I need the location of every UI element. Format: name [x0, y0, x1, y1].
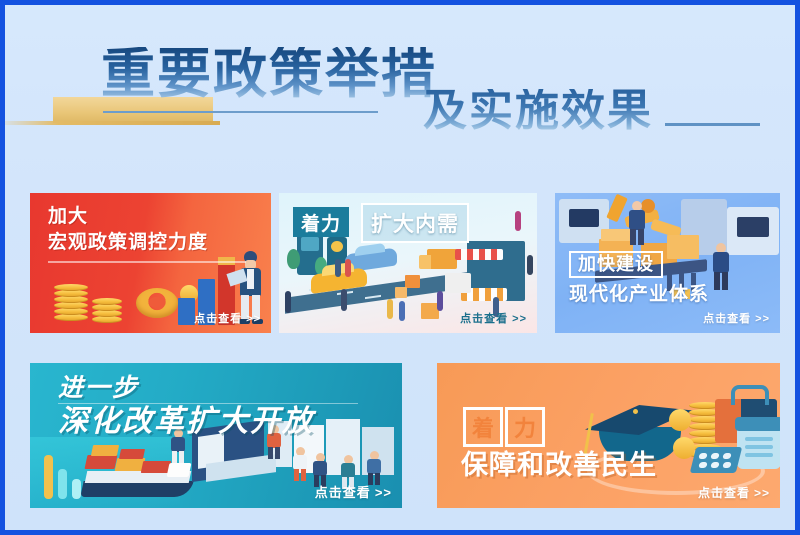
station-badge — [331, 241, 343, 252]
title-gold-rule — [5, 121, 220, 125]
cta-label: 点击查看 — [703, 313, 751, 325]
cta-label: 点击查看 — [460, 313, 508, 325]
card-macro-policy-line1: 加大 — [48, 207, 88, 227]
cta-label: 点击查看 — [698, 486, 750, 500]
coin-stack-short-icon — [92, 297, 122, 323]
card-livelihood-line1a: 着 — [463, 407, 503, 447]
card-domestic-demand[interactable]: 着力 扩大内需 点击查看>> — [279, 193, 537, 333]
card-reform-opening-cta[interactable]: 点击查看>> — [315, 482, 392, 501]
cta-arrow-icon: >> — [512, 313, 527, 325]
page-header: 重要政策举措 及实施效果 — [5, 5, 795, 180]
grad-cap-button — [633, 409, 638, 414]
container-red — [85, 455, 118, 469]
cta-arrow-icon: >> — [246, 313, 261, 325]
pedestrian — [527, 255, 533, 275]
title-main-underline — [103, 111, 378, 113]
worker-figure — [627, 201, 647, 245]
card-macro-policy[interactable]: 加大 宏观政策调控力度 点击查看>> — [30, 193, 271, 333]
jar-stripe — [745, 437, 773, 441]
pill-blister — [690, 447, 742, 473]
page-title-sub: 及实施效果 — [423, 89, 653, 133]
visitor-figure — [366, 451, 382, 485]
container-red — [119, 449, 145, 459]
cta-arrow-icon: >> — [754, 486, 770, 500]
card-domestic-demand-line1: 着力 — [293, 207, 349, 237]
mini-bar-cyan — [58, 469, 67, 499]
policy-measures-page: 重要政策举措 及实施效果 — [0, 0, 800, 535]
card-modern-industry-line2: 现代化产业体系 — [569, 285, 709, 305]
machine-screen — [569, 209, 599, 227]
machine-screen — [737, 217, 769, 237]
page-title-main: 重要政策举措 — [101, 47, 437, 101]
medicine-jar-lid — [735, 417, 780, 431]
card-modern-industry[interactable]: 加快建设 现代化产业体系 点击查看>> — [555, 193, 780, 333]
card-livelihood-line2: 保障和改善民生 — [461, 451, 657, 479]
card-reform-opening-rule — [58, 403, 358, 404]
pedestrian — [515, 211, 521, 231]
card-macro-policy-cta[interactable]: 点击查看>> — [194, 310, 261, 326]
cta-label: 点击查看 — [315, 485, 371, 500]
jar-stripe — [745, 445, 773, 449]
delivery-truck — [427, 249, 457, 269]
pedestrian — [345, 259, 351, 277]
pedestrian — [399, 301, 405, 321]
pedestrian — [285, 291, 291, 313]
shop-awning — [455, 249, 503, 260]
cta-arrow-icon: >> — [755, 313, 770, 325]
coin-stack-tall-icon — [54, 283, 88, 321]
card-domestic-demand-cta[interactable]: 点击查看>> — [460, 310, 527, 326]
pedestrian — [387, 299, 393, 319]
parcel-box — [395, 287, 407, 298]
card-reform-opening[interactable]: 进一步 深化改革扩大开放 点击查看>> — [30, 363, 402, 508]
single-coin-icon — [673, 437, 695, 459]
card-reform-opening-line1: 进一步 — [58, 375, 139, 401]
gold-ring-icon — [136, 288, 178, 318]
container-gold — [91, 445, 119, 456]
station-screen — [301, 237, 319, 251]
mini-bar-cyan-light — [72, 479, 81, 499]
stall-counter — [445, 273, 471, 293]
cta-label: 点击查看 — [194, 313, 242, 325]
card-livelihood[interactable]: 着 力 保障和改善民生 点击查看>> — [437, 363, 780, 508]
ship-bridge — [167, 463, 192, 477]
card-modern-industry-line1: 加快建设 — [569, 251, 663, 278]
crate — [667, 235, 699, 259]
bar-chart-bar-1 — [178, 298, 195, 325]
card-domestic-demand-line2: 扩大内需 — [361, 203, 469, 243]
visitor-figure — [292, 447, 308, 481]
worker-figure — [711, 243, 731, 291]
pedestrian — [437, 291, 443, 311]
card-livelihood-cta[interactable]: 点击查看>> — [698, 484, 770, 501]
card-modern-industry-cta[interactable]: 点击查看>> — [703, 310, 770, 326]
single-coin-icon — [669, 409, 691, 431]
card-livelihood-line1b: 力 — [505, 407, 545, 447]
card-macro-policy-rule — [48, 261, 246, 263]
cta-arrow-icon: >> — [375, 485, 392, 500]
card-macro-policy-line2: 宏观政策调控力度 — [48, 233, 208, 253]
card-reform-opening-line2: 深化改革扩大开放 — [58, 406, 314, 438]
jar-stripe — [745, 453, 773, 457]
pedestrian — [341, 289, 347, 311]
ship-hull — [80, 481, 193, 497]
briefcase-handle — [731, 385, 769, 405]
pedestrian — [335, 259, 341, 277]
mini-bar-gold — [44, 455, 53, 499]
tree-icon — [287, 249, 300, 269]
truck-cab — [419, 255, 431, 269]
parcel-box — [405, 275, 420, 288]
title-tail-rule — [665, 123, 760, 126]
